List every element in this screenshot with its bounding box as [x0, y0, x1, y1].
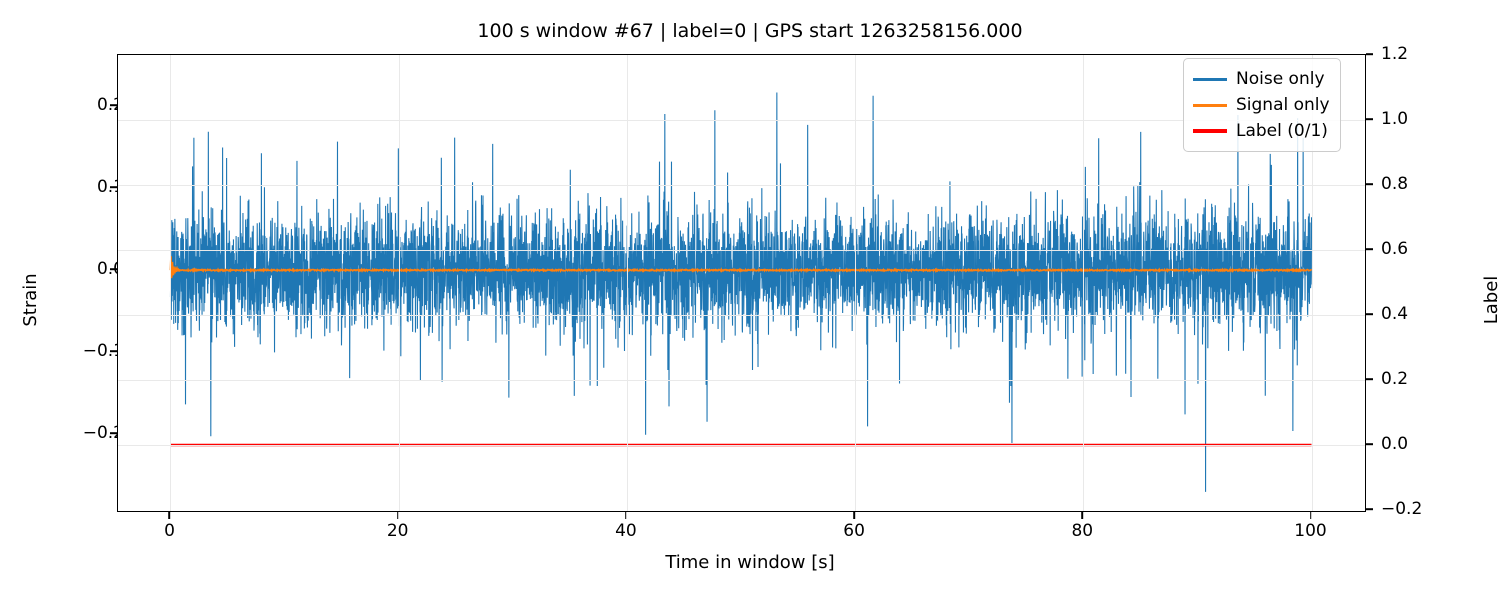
y-tick-label-right: 0.4 [1381, 304, 1408, 324]
x-tick-mark [1082, 512, 1084, 519]
y-tick-mark-right [1366, 53, 1373, 55]
chart-legend[interactable]: Noise onlySignal onlyLabel (0/1) [1183, 58, 1341, 152]
gridline-vertical [855, 55, 856, 511]
legend-label: Label (0/1) [1236, 121, 1328, 141]
x-tick-mark [169, 512, 171, 519]
legend-label: Signal only [1236, 95, 1330, 115]
gridline-vertical [170, 55, 171, 511]
y-tick-mark-left [110, 433, 117, 435]
gridline-horizontal [118, 315, 1365, 316]
legend-item[interactable]: Label (0/1) [1193, 118, 1330, 144]
y-tick-mark-left [110, 268, 117, 270]
y-tick-mark-right [1366, 248, 1373, 250]
x-tick-mark [397, 512, 399, 519]
x-axis-label: Time in window [s] [0, 552, 1500, 573]
gridline-horizontal [118, 445, 1365, 446]
gridline-horizontal [118, 380, 1365, 381]
y-tick-label-right: 0.0 [1381, 434, 1408, 454]
y-tick-label-right: 0.8 [1381, 174, 1408, 194]
x-tick-label: 60 [843, 521, 865, 541]
legend-item[interactable]: Signal only [1193, 92, 1330, 118]
chart-title: 100 s window #67 | label=0 | GPS start 1… [0, 20, 1500, 42]
y-tick-mark-right [1366, 118, 1373, 120]
gridline-horizontal [118, 250, 1365, 251]
gridline-vertical [1083, 55, 1084, 511]
x-tick-label: 0 [164, 521, 175, 541]
x-tick-label: 20 [387, 521, 409, 541]
x-tick-mark [853, 512, 855, 519]
y-tick-mark-right [1366, 183, 1373, 185]
gridline-vertical [627, 55, 628, 511]
x-tick-mark [625, 512, 627, 519]
y-tick-mark-right [1366, 508, 1373, 510]
noise-only-trace [170, 92, 1311, 491]
y-tick-label-right: 0.6 [1381, 239, 1408, 259]
y-tick-label-right: −0.2 [1381, 499, 1422, 519]
y-tick-label-right: 0.2 [1381, 369, 1408, 389]
y-tick-label-right: 1.2 [1381, 44, 1408, 64]
y-axis-label-right: Label [1481, 276, 1500, 325]
x-tick-label: 40 [615, 521, 637, 541]
x-tick-label: 100 [1294, 521, 1326, 541]
x-tick-mark [1310, 512, 1312, 519]
legend-color-swatch [1193, 78, 1227, 81]
x-tick-label: 80 [1071, 521, 1093, 541]
plot-area [117, 54, 1366, 512]
data-traces [118, 55, 1364, 510]
y-tick-mark-left [110, 186, 117, 188]
legend-label: Noise only [1236, 69, 1325, 89]
y-tick-mark-right [1366, 443, 1373, 445]
y-tick-label-right: 1.0 [1381, 109, 1408, 129]
y-tick-mark-left [110, 351, 117, 353]
y-tick-mark-left [110, 104, 117, 106]
legend-color-swatch [1193, 129, 1227, 132]
legend-item[interactable]: Noise only [1193, 66, 1330, 92]
gridline-horizontal [118, 185, 1365, 186]
legend-color-swatch [1193, 104, 1227, 107]
matplotlib-figure: 100 s window #67 | label=0 | GPS start 1… [0, 0, 1500, 600]
y-tick-mark-right [1366, 378, 1373, 380]
y-tick-mark-right [1366, 313, 1373, 315]
gridline-vertical [399, 55, 400, 511]
y-axis-label-left: Strain [20, 273, 41, 326]
gridline-horizontal [118, 120, 1365, 121]
